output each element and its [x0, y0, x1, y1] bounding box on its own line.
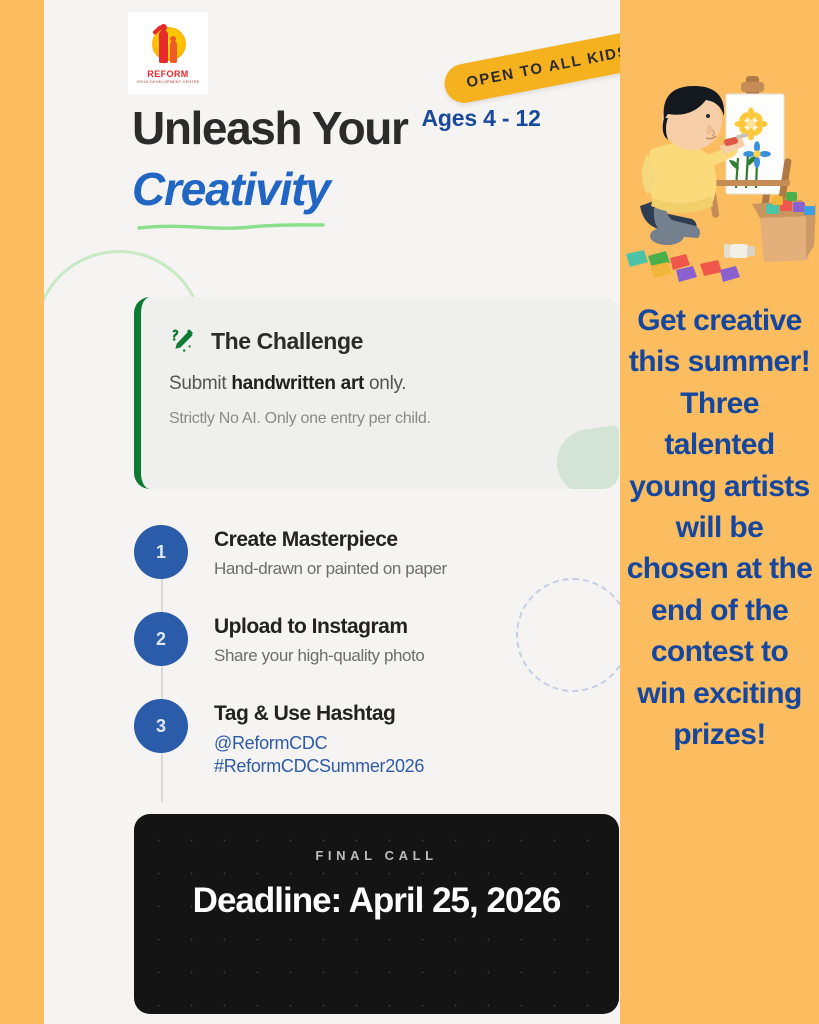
challenge-line-1: Submit handwritten art only.	[169, 373, 593, 395]
headline-line-2: Creativity	[132, 164, 602, 215]
poster-root: REFORM CHILD DEVELOPMENT CENTRE OPEN TO …	[0, 0, 819, 1024]
step-number-badge: 2	[134, 612, 188, 666]
main-content-panel: REFORM CHILD DEVELOPMENT CENTRE OPEN TO …	[44, 0, 620, 1024]
challenge-line1-prefix: Submit	[169, 373, 231, 394]
logo-name: REFORM	[147, 70, 188, 79]
step-title: Create Masterpiece	[214, 528, 447, 552]
ages-label: Ages 4 - 12	[421, 105, 540, 132]
headline-block: Unleash YourAges 4 - 12 Creativity	[132, 104, 602, 233]
deadline-card: FINAL CALL Deadline: April 25, 2026	[134, 814, 619, 1014]
step-title: Upload to Instagram	[214, 615, 425, 639]
challenge-line-2: Strictly No AI. Only one entry per child…	[169, 410, 593, 428]
step-item-1: 1 Create Masterpiece Hand-drawn or paint…	[134, 525, 614, 579]
step-title: Tag & Use Hashtag	[214, 702, 424, 726]
left-orange-band	[0, 0, 44, 1024]
step-number-badge: 1	[134, 525, 188, 579]
step-description: Hand-drawn or painted on paper	[214, 559, 447, 579]
sidebar-promo-text: Get creative this summer! Three talented…	[620, 300, 819, 755]
final-call-eyebrow: FINAL CALL	[134, 848, 619, 863]
step-item-3: 3 Tag & Use Hashtag @ReformCDC #ReformCD…	[134, 699, 614, 777]
right-orange-sidebar: Get creative this summer! Three talented…	[620, 0, 819, 1024]
challenge-line1-suffix: only.	[364, 373, 406, 394]
challenge-title: The Challenge	[211, 328, 363, 355]
challenge-line1-bold: handwritten art	[231, 373, 364, 394]
challenge-card: The Challenge Submit handwritten art onl…	[134, 297, 619, 489]
headline-line-1: Unleash Your	[132, 104, 407, 152]
adult-figure-shape	[159, 30, 168, 63]
instagram-handle-link[interactable]: @ReformCDC	[214, 733, 424, 754]
green-squiggle-underline	[136, 221, 326, 233]
step-item-2: 2 Upload to Instagram Share your high-qu…	[134, 612, 614, 666]
family-sun-logo-icon	[142, 25, 194, 69]
magic-pencil-icon	[169, 327, 197, 355]
deadline-text: Deadline: April 25, 2026	[134, 880, 619, 923]
step-number-badge: 3	[134, 699, 188, 753]
hashtag-link[interactable]: #ReformCDCSummer2026	[214, 756, 424, 777]
brand-logo: REFORM CHILD DEVELOPMENT CENTRE	[128, 12, 208, 94]
child-painting-at-easel-illustration	[620, 58, 819, 286]
step-description: Share your high-quality photo	[214, 646, 425, 666]
logo-subtitle: CHILD DEVELOPMENT CENTRE	[136, 81, 199, 85]
steps-list: 1 Create Masterpiece Hand-drawn or paint…	[134, 525, 614, 810]
open-to-all-kids-badge: OPEN TO ALL KIDS!	[441, 27, 620, 106]
child-figure-shape	[170, 41, 177, 63]
green-leaf-decoration	[553, 425, 619, 489]
